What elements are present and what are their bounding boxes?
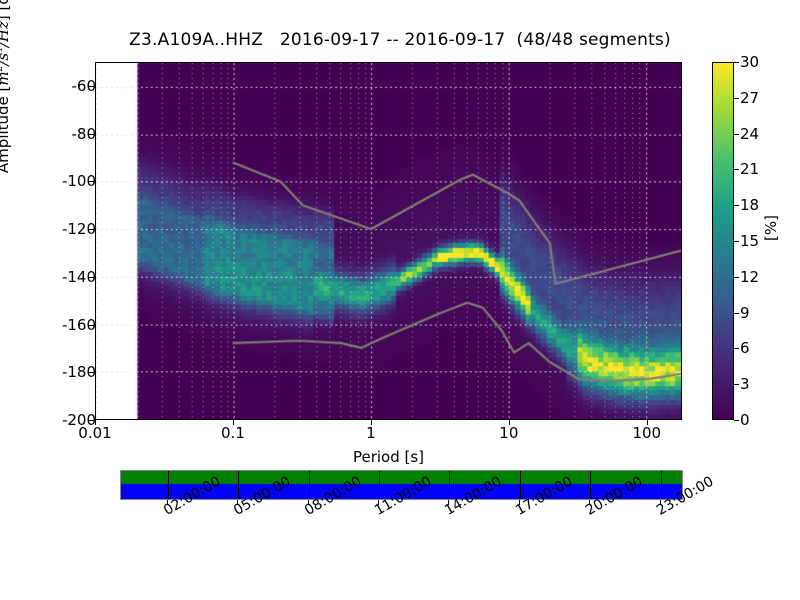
colorbar-tick-label: 27 [740,89,759,107]
y-tick-label: -60 [36,77,96,95]
figure: Z3.A109A..HHZ 2016-09-17 -- 2016-09-17 (… [0,0,800,600]
timeline-separator [379,471,380,499]
x-tick-mark [647,420,648,425]
colorbar-tick-label: 9 [740,304,750,322]
colorbar-tick-mark [734,241,739,242]
y-tick-label: -180 [36,363,96,381]
x-tick-label: 0.1 [221,424,245,442]
timeline-separator [309,471,310,499]
timeline-separator [238,471,239,499]
colorbar-tick-mark [734,313,739,314]
y-tick-label: -160 [36,316,96,334]
y-tick-label: -140 [36,268,96,286]
y-tick-label: -80 [36,125,96,143]
timeline-separator [449,471,450,499]
colorbar-tick-mark [734,205,739,206]
timeline-separator [520,471,521,499]
colorbar-tick-label: 21 [740,160,759,178]
ppsd-axes[interactable] [95,62,682,420]
page-title: Z3.A109A..HHZ 2016-09-17 -- 2016-09-17 (… [0,30,800,50]
x-axis-label: Period [s] [95,448,682,466]
timeline-separator [590,471,591,499]
x-tick-label: 0.01 [78,424,111,442]
x-tick-label: 1 [366,424,376,442]
y-tick-mark [89,229,95,230]
colorbar-tick-mark [734,62,739,63]
colorbar-tick-mark [734,169,739,170]
colorbar-label: [%] [762,215,780,241]
y-tick-mark [89,372,95,373]
y-tick-label: -100 [36,172,96,190]
colorbar-tick-label: 24 [740,125,759,143]
colorbar-tick-label: 18 [740,196,759,214]
y-tick-mark [89,325,95,326]
colorbar-tick-label: 30 [740,53,759,71]
x-tick-mark [371,420,372,425]
timeline-separator [661,471,662,499]
x-tick-mark [509,420,510,425]
colorbar-tick-mark [734,277,739,278]
y-tick-mark [89,181,95,182]
colorbar-tick-label: 12 [740,268,759,286]
x-tick-mark [233,420,234,425]
y-tick-mark [89,86,95,87]
x-tick-mark [95,420,96,425]
y-tick-mark [89,134,95,135]
ppsd-heatmap[interactable] [96,63,681,419]
colorbar-tick-mark [734,98,739,99]
colorbar-tick-mark [734,134,739,135]
colorbar-tick-mark [734,420,739,421]
timeline-separator [168,471,169,499]
colorbar-tick-mark [734,384,739,385]
colorbar-tick-mark [734,348,739,349]
colorbar-tick-label: 6 [740,339,750,357]
y-tick-mark [89,277,95,278]
colorbar-tick-label: 0 [740,411,750,429]
y-tick-label: -120 [36,220,96,238]
colorbar[interactable] [712,62,734,420]
x-tick-label: 100 [632,424,661,442]
x-tick-label: 10 [499,424,518,442]
y-axis-label: Amplitude [m2/s4/Hz] [dB] [0,0,12,241]
colorbar-tick-label: 3 [740,375,750,393]
colorbar-tick-label: 15 [740,232,759,250]
